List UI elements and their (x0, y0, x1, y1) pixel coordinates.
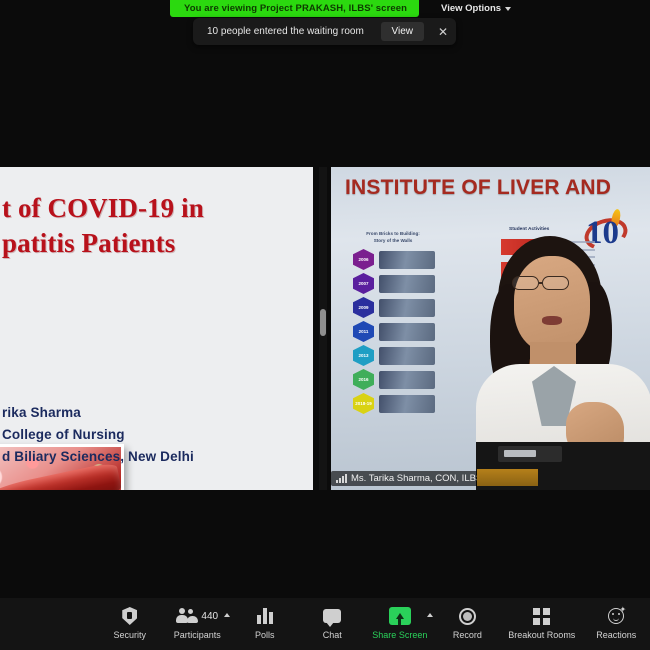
reactions-icon: ✦ (608, 608, 624, 624)
timeline-photo-card (379, 275, 435, 293)
timeline-year-hexagon: 2007 (353, 273, 374, 294)
share-screen-icon (389, 605, 411, 627)
slide-title-line-1: t of COVID-19 in (2, 191, 313, 226)
chat-label: Chat (323, 630, 342, 640)
sharing-notice: You are viewing Project PRAKASH, ILBS' s… (170, 0, 419, 17)
polls-bars-icon (257, 605, 273, 627)
shared-screen-slide[interactable]: t of COVID-19 in patitis Patients rika S… (0, 167, 313, 490)
timeline-year-hexagon: 2013 (353, 345, 374, 366)
timeline-photo-card (379, 323, 435, 341)
chevron-up-icon[interactable] (427, 613, 433, 617)
meeting-toolbar: Security 440 Participants Polls Chat Sha… (0, 598, 650, 650)
timeline-year-hexagon: 2009 (353, 297, 374, 318)
timeline-photo-card (379, 371, 435, 389)
share-screen-label: Share Screen (372, 630, 427, 640)
security-label: Security (114, 630, 147, 640)
record-label: Record (453, 630, 482, 640)
timeline-photo-card (379, 347, 435, 365)
timeline-photo-card (379, 251, 435, 269)
timeline-photo-card (379, 395, 435, 413)
eyeglasses-icon (512, 276, 539, 290)
presenter-person (470, 230, 650, 490)
slide-scrollbar-thumb[interactable] (320, 309, 326, 336)
chevron-up-icon[interactable] (224, 613, 230, 617)
chat-bubble-icon (323, 605, 341, 627)
screen-share-bar: You are viewing Project PRAKASH, ILBS' s… (170, 0, 523, 17)
view-options-label: View Options (441, 3, 501, 14)
security-button[interactable]: Security (96, 601, 164, 647)
record-icon (459, 605, 476, 627)
slide-title: t of COVID-19 in patitis Patients (0, 167, 313, 260)
zoom-meeting-window: You are viewing Project PRAKASH, ILBS' s… (0, 0, 650, 650)
toast-view-button[interactable]: View (381, 22, 425, 41)
record-button[interactable]: Record (434, 601, 502, 647)
byline-college: College of Nursing (2, 424, 194, 446)
participants-button[interactable]: 440 Participants (164, 601, 232, 647)
slide-title-line-2: patitis Patients (2, 226, 313, 261)
breakout-rooms-icon (533, 605, 550, 627)
reactions-label: Reactions (596, 630, 636, 640)
reactions-button[interactable]: ✦ Reactions (583, 601, 650, 647)
polls-label: Polls (255, 630, 275, 640)
timeline-year-hexagon: 2011 (353, 321, 374, 342)
video-artifact-block (477, 469, 538, 486)
timeline-photo-card (379, 299, 435, 317)
chevron-down-icon (505, 7, 511, 11)
timeline-year-hexagon: 2016 (353, 369, 374, 390)
byline-institute: d Biliary Sciences, New Delhi (2, 446, 194, 468)
close-icon[interactable]: ✕ (430, 26, 456, 38)
byline-presenter: rika Sharma (2, 402, 194, 424)
participants-icon (176, 608, 198, 624)
chat-button[interactable]: Chat (299, 601, 367, 647)
timeline-year-hexagon: 2018-19 (353, 393, 374, 414)
polls-button[interactable]: Polls (231, 601, 299, 647)
participants-count: 440 (201, 611, 218, 622)
presenter-video-tile[interactable]: INSTITUTE OF LIVER AND 10 From Bricks to… (331, 167, 650, 490)
shield-icon (122, 605, 137, 627)
timeline-heading: From Bricks to Building: Story of the Wa… (361, 231, 425, 245)
timeline-year-hexagon: 2006 (353, 249, 374, 270)
waiting-room-toast: 10 people entered the waiting room View … (193, 18, 456, 45)
participant-name: Ms. Tarika Sharma, CON, ILBS (351, 473, 482, 484)
breakout-rooms-button[interactable]: Breakout Rooms (501, 601, 582, 647)
view-options-button[interactable]: View Options (419, 0, 523, 17)
breakout-rooms-label: Breakout Rooms (508, 630, 575, 640)
signal-strength-icon (336, 474, 347, 483)
share-screen-button[interactable]: Share Screen (366, 601, 434, 647)
participant-name-label: Ms. Tarika Sharma, CON, ILBS (331, 471, 489, 486)
toast-message: 10 people entered the waiting room (193, 26, 381, 37)
slide-byline: rika Sharma College of Nursing d Biliary… (2, 402, 194, 468)
banner-title: INSTITUTE OF LIVER AND (345, 176, 611, 200)
participants-label: Participants (174, 630, 221, 640)
